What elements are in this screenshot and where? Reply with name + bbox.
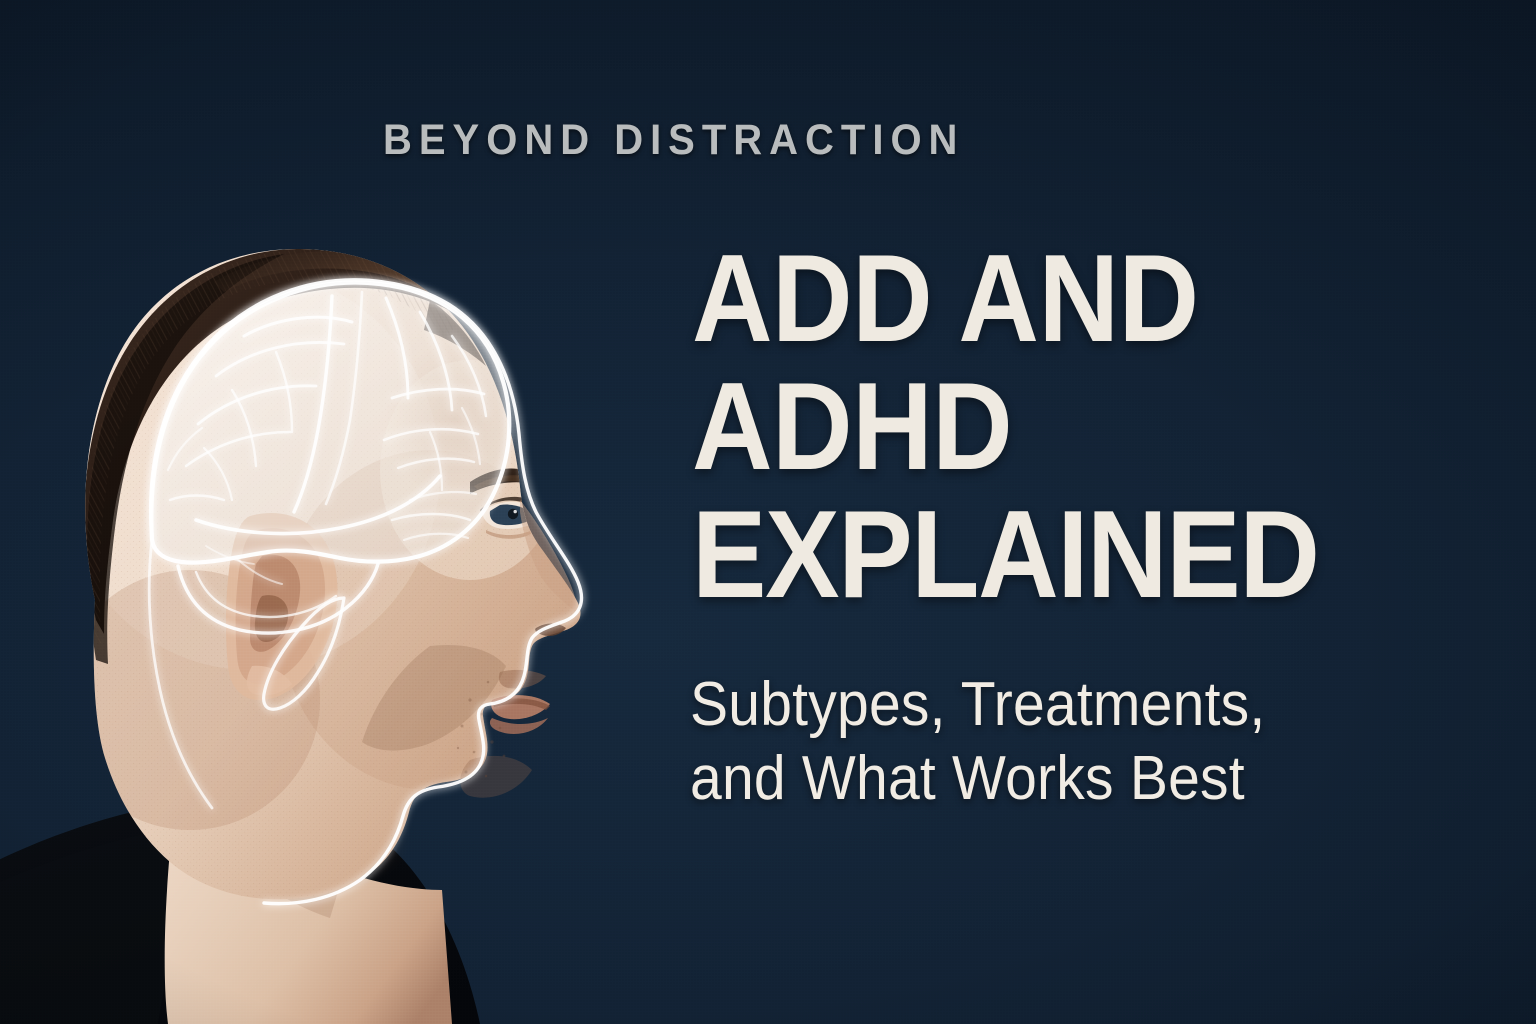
headline-line-3: EXPLAINED — [692, 494, 1376, 616]
subhead-group: Subtypes, Treatments, and What Works Bes… — [690, 668, 1480, 816]
subhead-line-2: and What Works Best — [690, 742, 1417, 816]
headline-line-1: ADD AND — [692, 238, 1376, 360]
poster-canvas: BEYOND DISTRACTION ADD AND ADHD EXPLAINE… — [0, 0, 1536, 1024]
kicker-text: BEYOND DISTRACTION — [383, 116, 964, 165]
headline-line-2: ADHD — [692, 366, 1376, 488]
subhead-line-1: Subtypes, Treatments, — [690, 668, 1417, 742]
headline-group: ADD AND ADHD EXPLAINED — [692, 238, 1452, 616]
